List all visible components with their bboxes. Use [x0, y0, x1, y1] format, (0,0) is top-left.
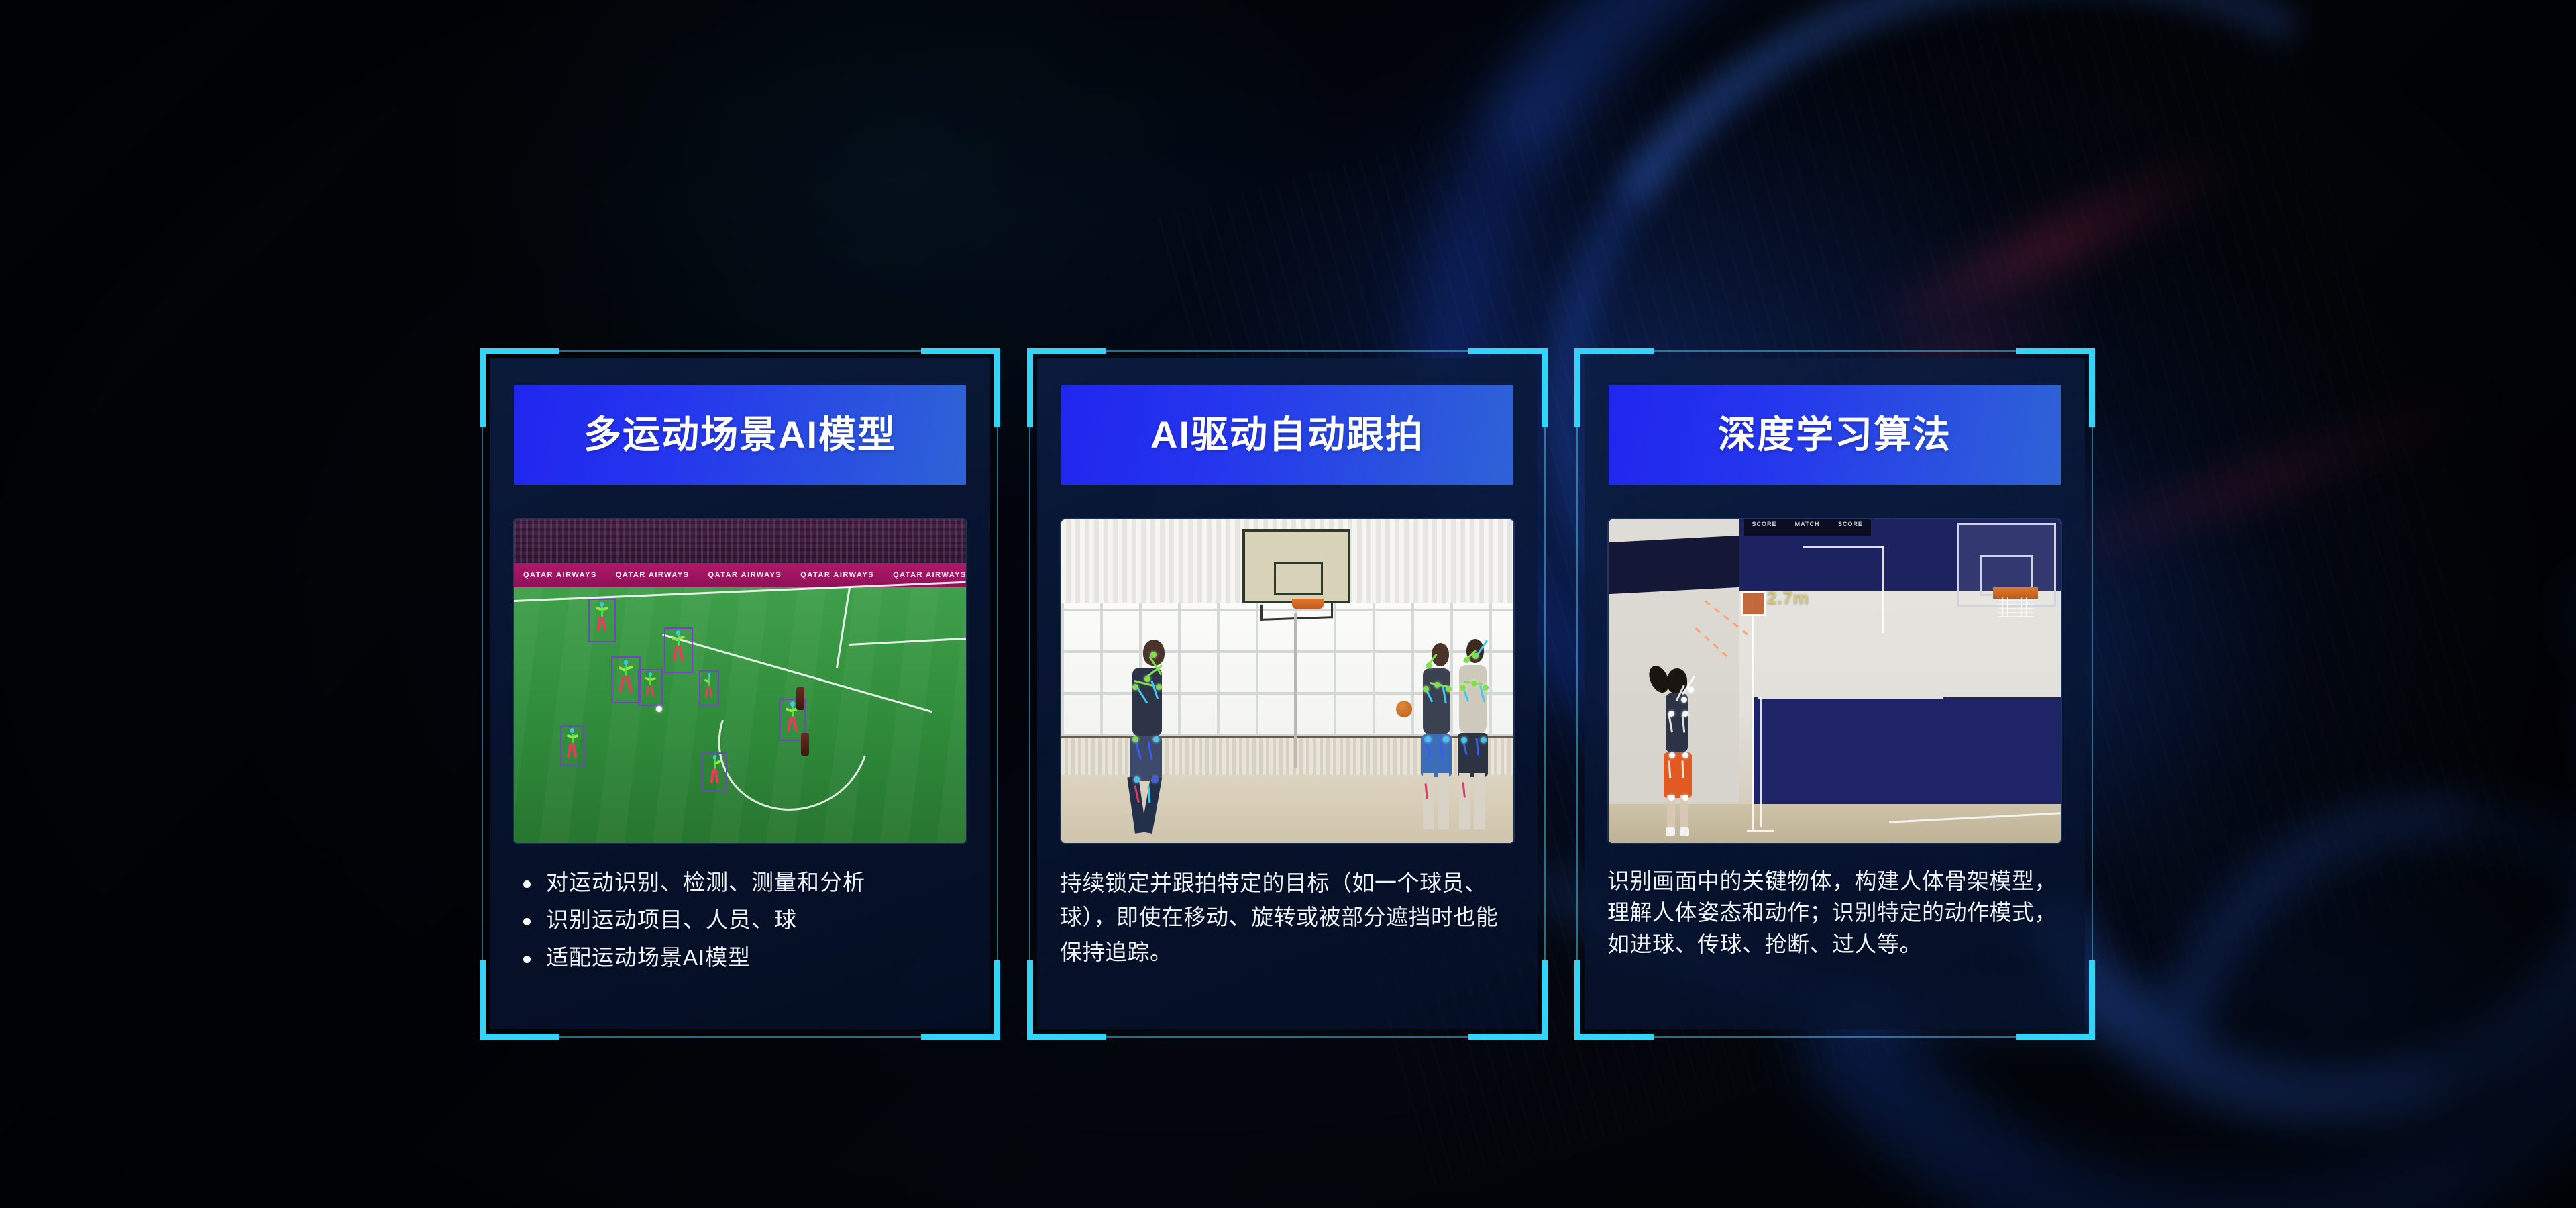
player-undetected [801, 733, 809, 756]
bullet-item: 适配运动场景AI模型 [513, 941, 967, 974]
card-header-banner: 深度学习算法 [1609, 385, 2061, 485]
feature-bullet-list: 对运动识别、检测、测量和分析 识别运动项目、人员、球 适配运动场景AI模型 [513, 866, 967, 974]
gym-window-divider [1294, 613, 1297, 768]
card-header-banner: 多运动场景AI模型 [514, 385, 966, 485]
hud-measure-line [1803, 546, 1884, 548]
scoreboard-label: SCORE [1752, 521, 1777, 527]
card-media-gym-pose [1061, 519, 1513, 843]
hud-measure-line [1882, 546, 1884, 633]
scoreboard-strip: SCORE MATCH SCORE [1744, 519, 1871, 536]
sponsor-text: QATAR AIRWAYS [514, 571, 606, 579]
card-title: AI驱动自动跟拍 [1150, 416, 1424, 454]
card-header-banner: AI驱动自动跟拍 [1061, 385, 1513, 485]
hud-floor-guide [1747, 830, 1774, 832]
detection-box [699, 670, 719, 706]
slide-stage: 多运动场景AI模型 QATAR AIRWAYS QATAR AIRWAYS QA… [0, 0, 2576, 1208]
detection-box [611, 656, 641, 703]
detection-box [702, 752, 727, 792]
feature-card-list: 多运动场景AI模型 QATAR AIRWAYS QATAR AIRWAYS QA… [482, 350, 2094, 1038]
hud-floor-guide [1760, 697, 1762, 827]
hud-floor-guide [1758, 697, 1943, 699]
card-title: 深度学习算法 [1718, 416, 1951, 454]
tracked-player [1650, 662, 1709, 836]
detection-box [638, 669, 662, 706]
basketball-hoop [1292, 599, 1324, 608]
soccer-ball [656, 706, 662, 712]
card-description: 识别画面中的关键物体，构建人体骨架模型，理解人体姿态和动作；识别特定的动作模式，… [1607, 866, 2062, 960]
detection-box [664, 627, 693, 674]
card-description: 持续锁定并跟拍特定的目标（如一个球员、球），即使在移动、旋转或被部分遮挡时也能保… [1060, 866, 1515, 969]
sponsor-text: QATAR AIRWAYS [883, 571, 966, 579]
card-media-court-measurement: SCORE MATCH SCORE [1609, 519, 2061, 843]
court-left-wall-stripe [1609, 536, 1739, 594]
card-title: 多运动场景AI模型 [584, 416, 896, 454]
sponsor-text: QATAR AIRWAYS [791, 571, 883, 579]
feature-card-ai-auto-tracking[interactable]: AI驱动自动跟拍 [1029, 350, 1546, 1038]
scoreboard-label: SCORE [1838, 521, 1863, 527]
hud-vertical-guide [1752, 594, 1754, 830]
detection-box [560, 725, 584, 766]
court-wall-navy-lower [1754, 697, 2061, 811]
feature-card-multi-sport-ai-model[interactable]: 多运动场景AI模型 QATAR AIRWAYS QATAR AIRWAYS QA… [482, 350, 998, 1038]
basketball-net [1998, 597, 2034, 617]
sponsor-text: QATAR AIRWAYS [699, 571, 792, 579]
tracked-player [1441, 633, 1504, 834]
card-body: 识别画面中的关键物体，构建人体骨架模型，理解人体姿态和动作；识别特定的动作模式，… [1607, 866, 2062, 1029]
feature-card-deep-learning-algorithm[interactable]: 深度学习算法 SCORE MATCH SCORE [1576, 350, 2093, 1038]
card-media-soccer-detection: QATAR AIRWAYS QATAR AIRWAYS QATAR AIRWAY… [514, 519, 966, 843]
basketball [1396, 701, 1412, 717]
measurement-label: 2.7m [1767, 587, 1809, 608]
tracked-player [1111, 636, 1183, 837]
card-body: 对运动识别、检测、测量和分析 识别运动项目、人员、球 适配运动场景AI模型 [513, 866, 967, 1029]
bullet-item: 对运动识别、检测、测量和分析 [513, 866, 967, 899]
sponsor-text: QATAR AIRWAYS [606, 571, 699, 579]
card-body: 持续锁定并跟拍特定的目标（如一个球员、球），即使在移动、旋转或被部分遮挡时也能保… [1060, 866, 1515, 1029]
scoreboard-label: MATCH [1795, 521, 1820, 527]
basketball-backboard [1242, 529, 1351, 603]
hud-ball-tracking-box [1741, 591, 1766, 616]
soccer-pitch [514, 587, 966, 843]
player-undetected [796, 687, 804, 710]
detection-box [588, 599, 616, 642]
bullet-item: 识别运动项目、人员、球 [513, 903, 967, 937]
